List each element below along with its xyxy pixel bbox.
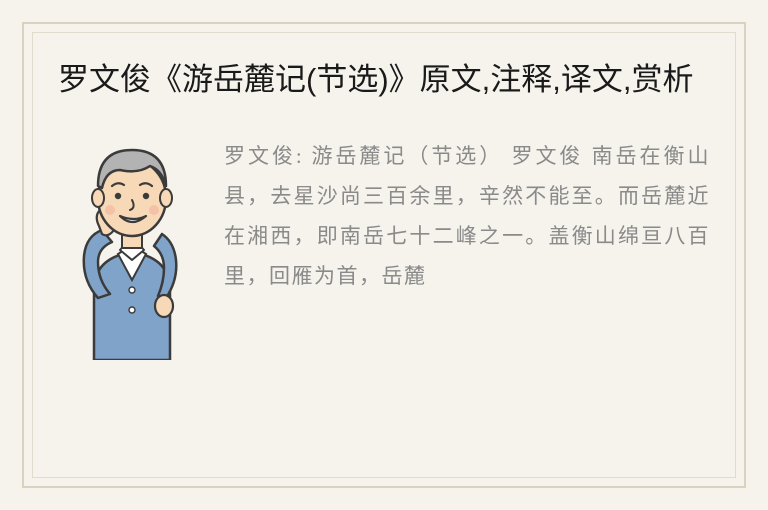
- elderly-man-cartoon-icon: [58, 130, 206, 360]
- page-title: 罗文俊《游岳麓记(节选)》原文,注释,译文,赏析: [58, 50, 710, 102]
- passage-column: 罗文俊: 游岳麓记（节选） 罗文俊 南岳在衡山县，去星沙尚三百余里，辛然不能至。…: [206, 130, 710, 360]
- passage-text: 罗文俊: 游岳麓记（节选） 罗文俊 南岳在衡山县，去星沙尚三百余里，辛然不能至。…: [224, 136, 710, 296]
- elderly-man-cartoon-illustration: [58, 130, 206, 360]
- document-content: 罗文俊《游岳麓记(节选)》原文,注释,译文,赏析: [58, 50, 710, 460]
- article-body: 罗文俊: 游岳麓记（节选） 罗文俊 南岳在衡山县，去星沙尚三百余里，辛然不能至。…: [58, 130, 710, 360]
- document-page: 罗文俊《游岳麓记(节选)》原文,注释,译文,赏析: [0, 0, 768, 510]
